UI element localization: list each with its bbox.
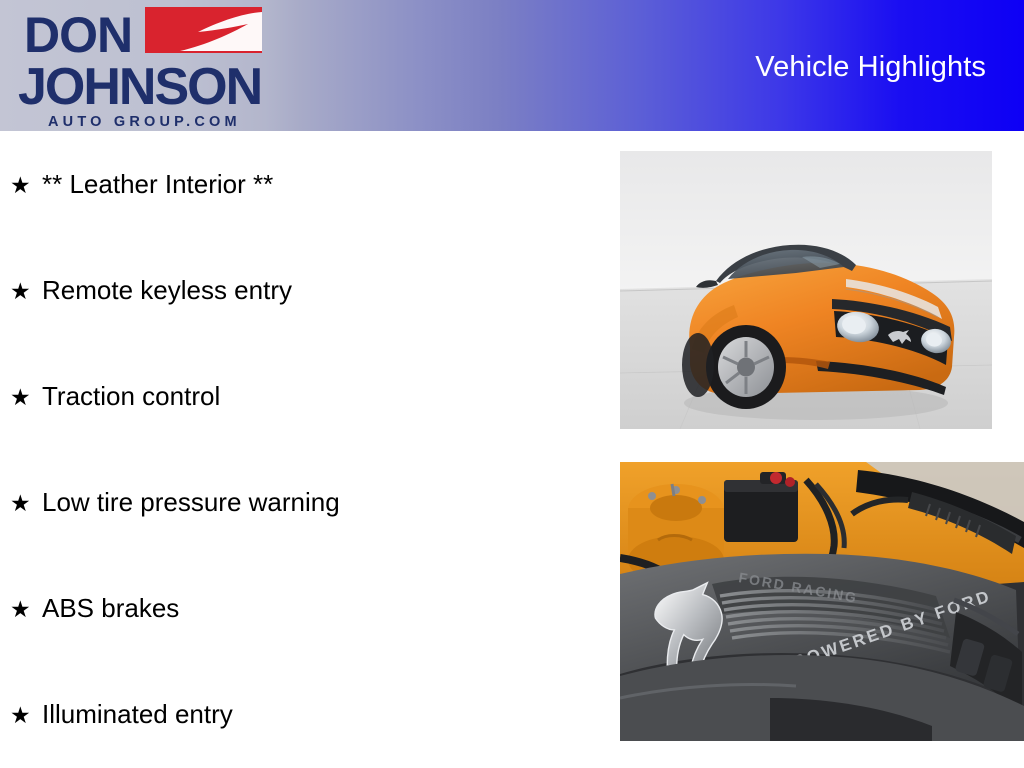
logo-artwork: DON JOHNSON AUTO GROUP.COM xyxy=(12,4,262,130)
highlight-label: Illuminated entry xyxy=(42,699,233,729)
star-bullet-icon: ★ xyxy=(10,700,42,730)
slide-root: DON JOHNSON AUTO GROUP.COM Vehicle Highl… xyxy=(0,0,1024,768)
battery xyxy=(724,472,798,542)
vehicle-exterior-photo[interactable] xyxy=(620,151,992,429)
highlight-label: Low tire pressure warning xyxy=(42,487,340,517)
highlight-label: ** Leather Interior ** xyxy=(42,169,273,199)
front-wheel xyxy=(706,325,786,409)
logo-text-autogroup: AUTO GROUP.COM xyxy=(48,114,241,130)
logo-text-johnson: JOHNSON xyxy=(18,58,261,116)
list-item: ★ Remote keyless entry xyxy=(10,275,292,306)
star-bullet-icon: ★ xyxy=(10,170,42,200)
list-item: ★ Traction control xyxy=(10,381,220,412)
star-bullet-icon: ★ xyxy=(10,276,42,306)
list-item: ★ ** Leather Interior ** xyxy=(10,169,273,200)
list-item: ★ Low tire pressure warning xyxy=(10,487,340,518)
list-item: ★ ABS brakes xyxy=(10,593,179,624)
page-title: Vehicle Highlights xyxy=(755,50,986,84)
engine-bay-photo[interactable]: FORD RACING POWERED BY FORD xyxy=(620,462,1024,741)
exterior-photo-artwork xyxy=(620,151,992,429)
engine-photo-artwork: FORD RACING POWERED BY FORD xyxy=(620,462,1024,741)
dealer-logo[interactable]: DON JOHNSON AUTO GROUP.COM xyxy=(12,4,262,130)
highlight-label: Traction control xyxy=(42,381,220,411)
list-item: ★ Illuminated entry xyxy=(10,699,233,730)
highlight-label: ABS brakes xyxy=(42,593,179,623)
logo-text-don: DON xyxy=(24,7,132,63)
vehicle-highlights-list: ★ ** Leather Interior ** ★ Remote keyles… xyxy=(0,149,600,749)
star-bullet-icon: ★ xyxy=(10,382,42,412)
star-bullet-icon: ★ xyxy=(10,488,42,518)
star-bullet-icon: ★ xyxy=(10,594,42,624)
highlight-label: Remote keyless entry xyxy=(42,275,292,305)
